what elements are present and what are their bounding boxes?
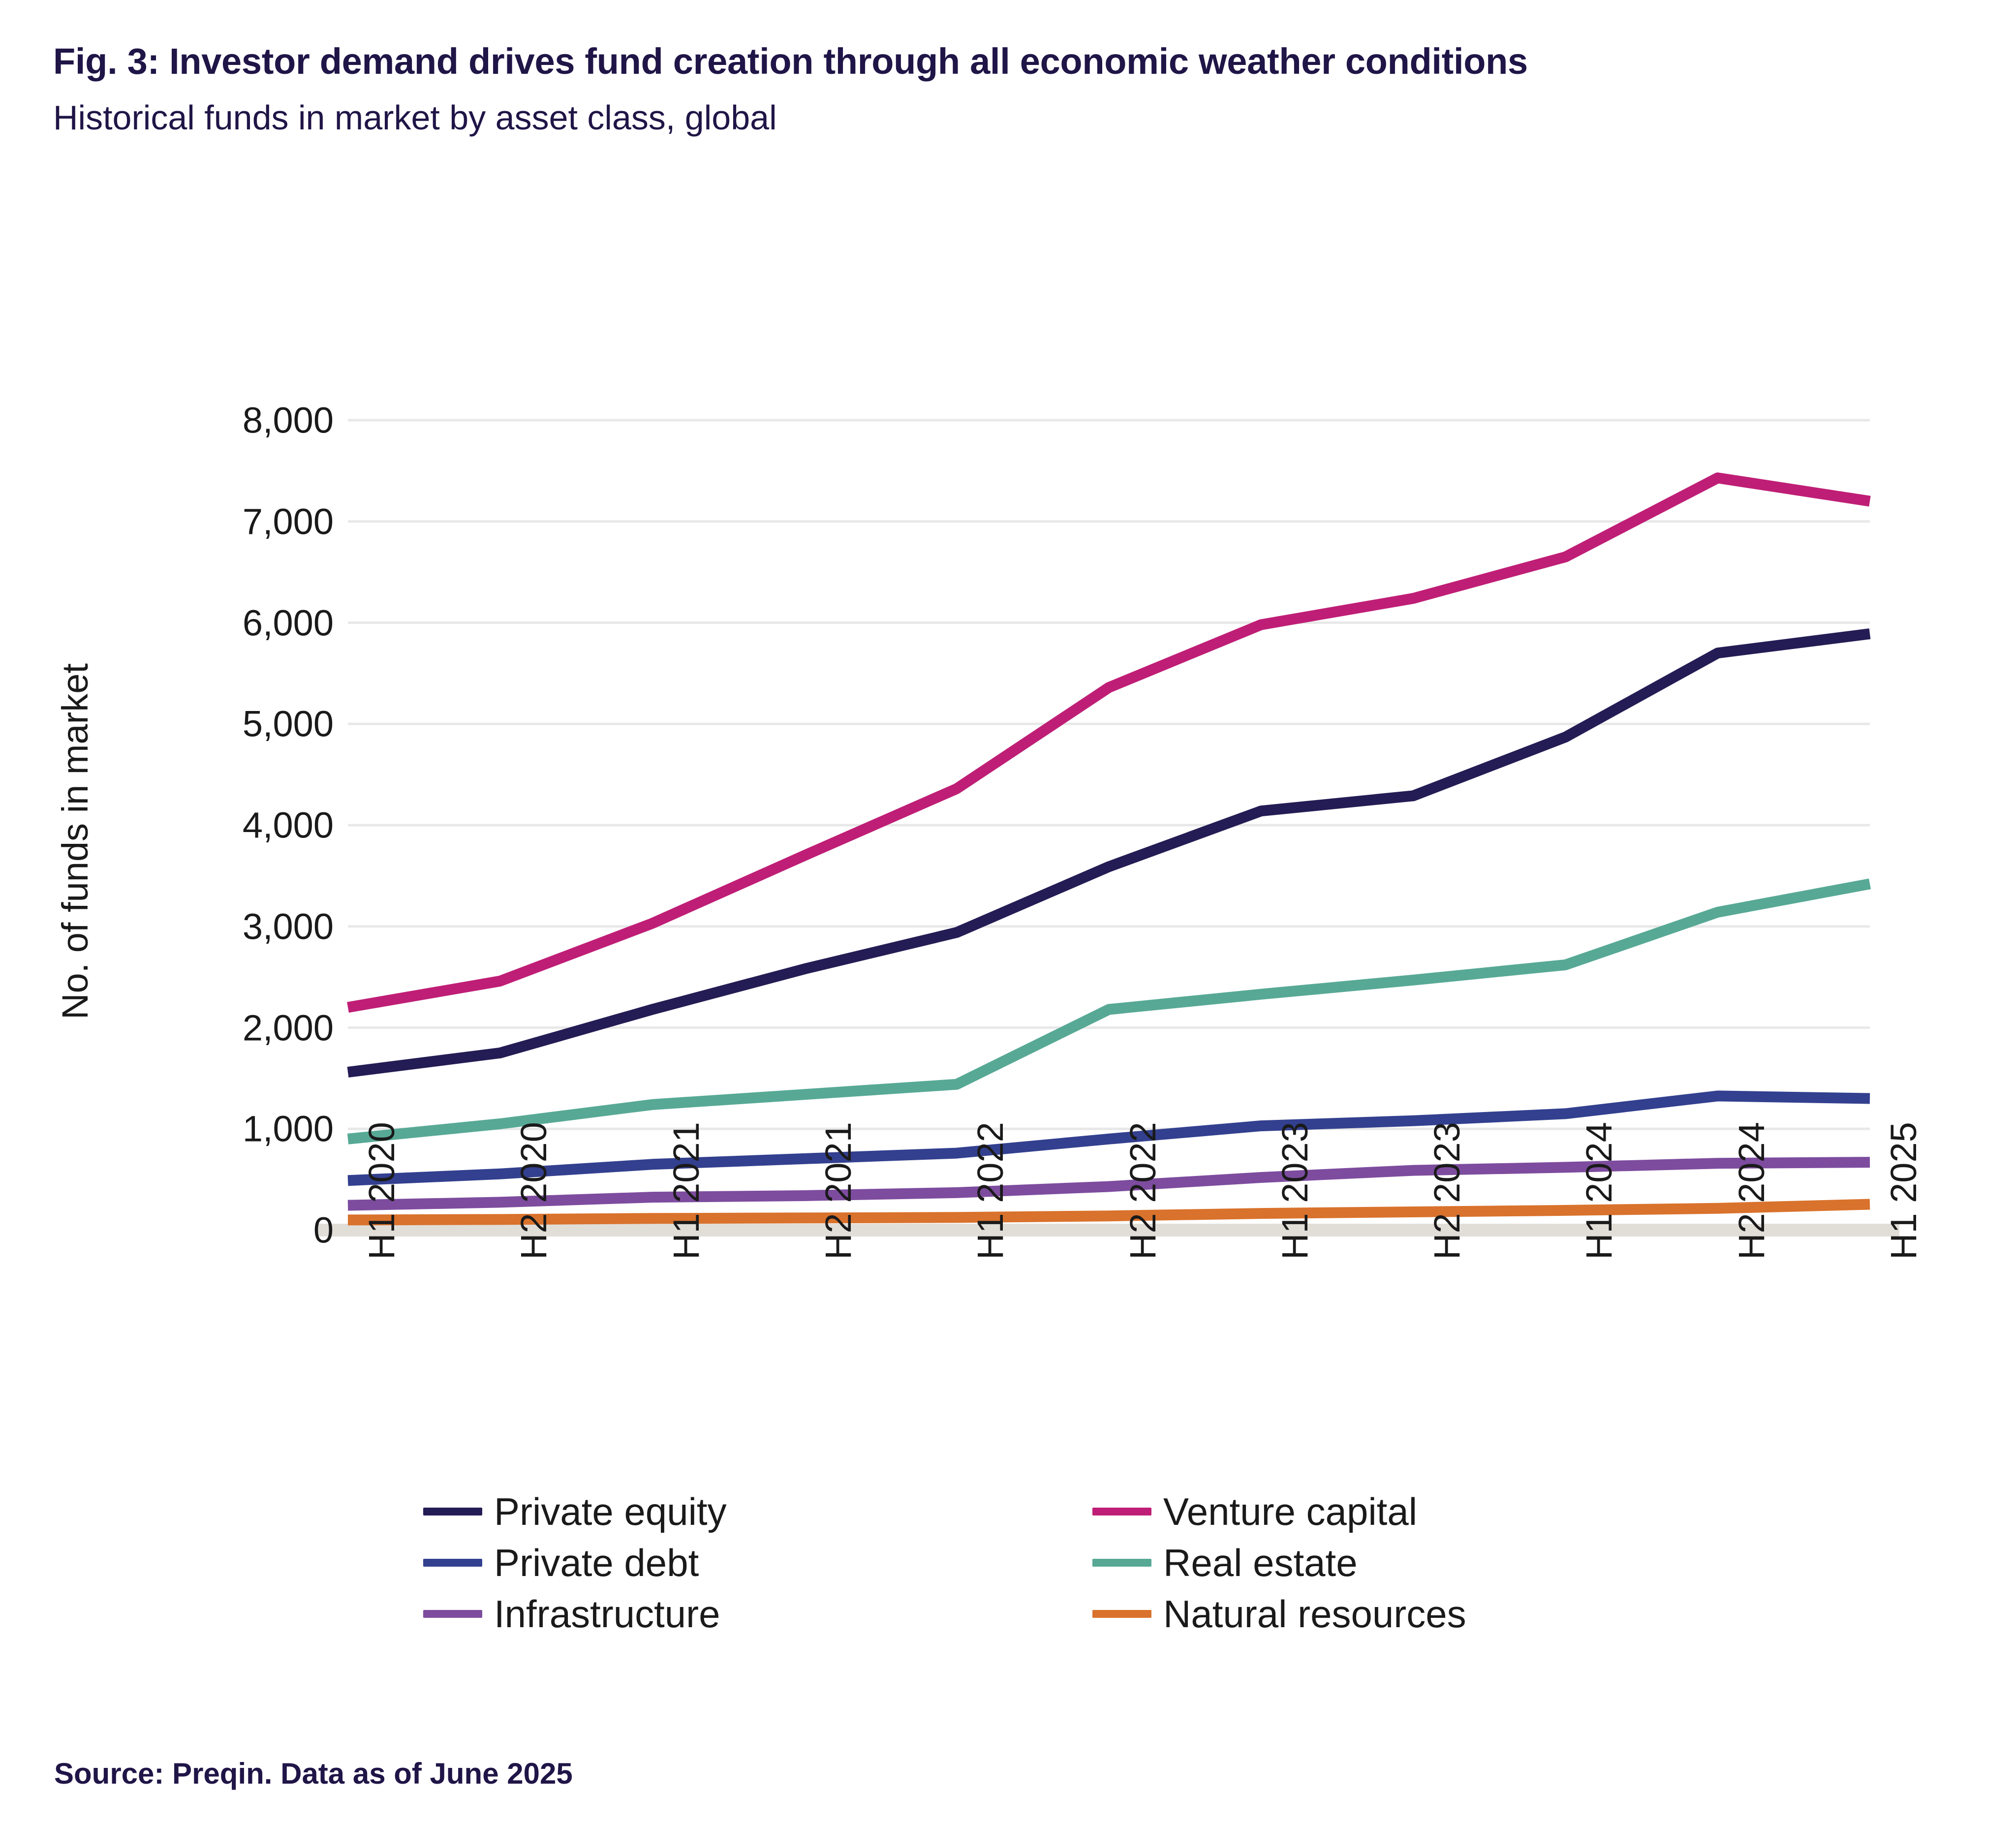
- x-tick-label: H1 2020: [361, 1122, 403, 1260]
- legend-swatch-real-estate-icon: [1092, 1559, 1151, 1567]
- legend-item-natural-resources[interactable]: Natural resources: [1092, 1588, 1762, 1639]
- chart-legend: Private equityVenture capitalPrivate deb…: [423, 1486, 1762, 1639]
- legend-swatch-natural-resources-icon: [1092, 1610, 1151, 1618]
- x-tick-label: H2 2024: [1731, 1122, 1772, 1260]
- x-tick-label: H2 2021: [817, 1122, 859, 1260]
- legend-label: Private debt: [494, 1544, 699, 1582]
- x-tick-label: H1 2023: [1274, 1122, 1316, 1260]
- x-tick-label: H1 2024: [1578, 1122, 1620, 1260]
- legend-label: Venture capital: [1163, 1492, 1417, 1531]
- legend-label: Natural resources: [1163, 1595, 1466, 1633]
- legend-swatch-private-equity-icon: [423, 1508, 482, 1515]
- legend-item-real-estate[interactable]: Real estate: [1092, 1537, 1762, 1588]
- x-tick-label: H1 2022: [969, 1122, 1011, 1260]
- legend-swatch-private-debt-icon: [423, 1559, 482, 1567]
- legend-item-venture-capital[interactable]: Venture capital: [1092, 1486, 1762, 1537]
- x-tick-label: H1 2025: [1883, 1122, 1924, 1260]
- legend-item-private-equity[interactable]: Private equity: [423, 1486, 1092, 1537]
- legend-label: Real estate: [1163, 1544, 1358, 1582]
- x-tick-label: H2 2023: [1426, 1122, 1468, 1260]
- legend-swatch-infrastructure-icon: [423, 1610, 482, 1618]
- legend-swatch-venture-capital-icon: [1092, 1508, 1151, 1515]
- legend-label: Infrastructure: [494, 1595, 720, 1633]
- source-note: Source: Preqin. Data as of June 2025: [54, 1757, 573, 1791]
- legend-item-infrastructure[interactable]: Infrastructure: [423, 1588, 1092, 1639]
- x-tick-label: H2 2020: [513, 1122, 555, 1260]
- legend-item-private-debt[interactable]: Private debt: [423, 1537, 1092, 1588]
- x-tick-label: H1 2021: [665, 1122, 707, 1260]
- legend-label: Private equity: [494, 1492, 727, 1531]
- x-tick-label: H2 2022: [1122, 1122, 1164, 1260]
